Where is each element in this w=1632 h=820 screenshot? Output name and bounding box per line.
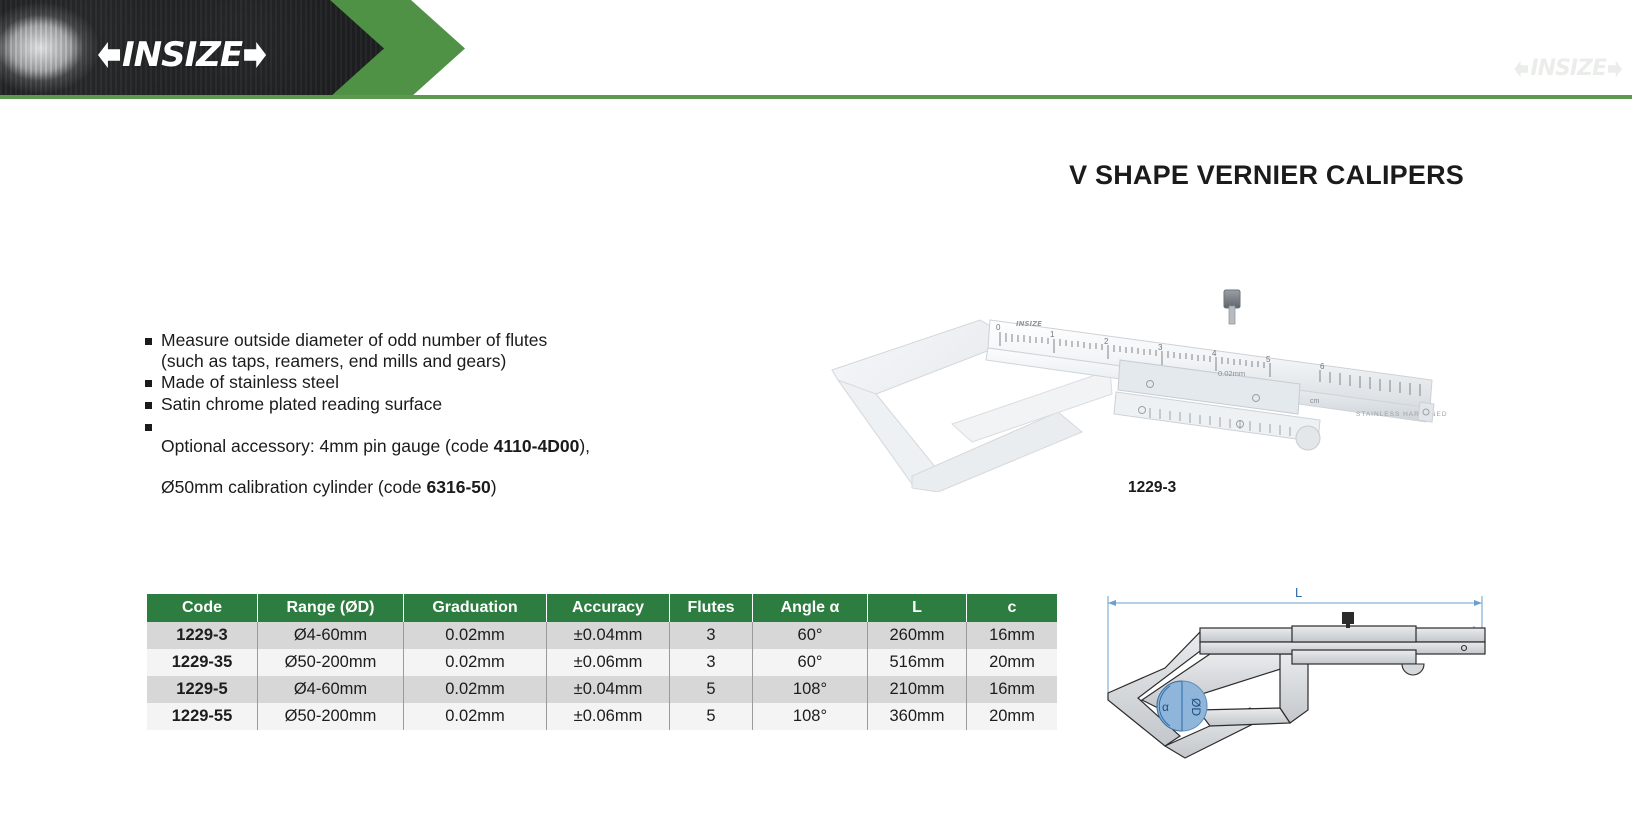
cell-accuracy: ±0.06mm — [547, 703, 670, 730]
watermark-right-arrow-icon — [1608, 61, 1622, 78]
logo-wordmark: INSIZE — [122, 38, 242, 72]
cell-c: 16mm — [967, 676, 1058, 703]
table-row: 1229-55 Ø50-200mm 0.02mm ±0.06mm 5 108° … — [147, 703, 1057, 730]
cell-angle: 60° — [753, 622, 868, 649]
cell-accuracy: ±0.04mm — [547, 676, 670, 703]
column-header-flutes: Flutes — [670, 594, 753, 622]
list-item: Made of stainless steel — [145, 372, 745, 393]
square-bullet-icon — [145, 402, 152, 409]
product-photo-caption: 1229-3 — [1128, 479, 1176, 497]
caliper-unit-mark: cm — [1310, 398, 1320, 405]
scale-number-1: 1 — [1050, 330, 1055, 339]
cell-angle: 108° — [753, 676, 868, 703]
caliper-body-logo: INSIZE — [1016, 320, 1042, 328]
technical-diagram: L c α ØD — [1050, 558, 1490, 768]
square-bullet-icon — [145, 424, 152, 431]
watermark-left-arrow-icon — [1514, 61, 1528, 78]
watermark-wordmark: INSIZE — [1530, 58, 1606, 80]
cell-flutes: 5 — [670, 703, 753, 730]
table-row: 1229-3 Ø4-60mm 0.02mm ±0.04mm 3 60° 260m… — [147, 622, 1057, 649]
insize-watermark-logo: INSIZE — [1514, 58, 1622, 80]
cell-l: 210mm — [868, 676, 967, 703]
table-body: 1229-3 Ø4-60mm 0.02mm ±0.04mm 3 60° 260m… — [147, 622, 1057, 730]
feature-text: Measure outside diameter of odd number o… — [161, 330, 547, 371]
cell-code: 1229-5 — [147, 676, 258, 703]
cell-graduation: 0.02mm — [404, 622, 547, 649]
caliper-photo-svg: 0 1 2 3 4 5 6 — [820, 262, 1460, 492]
feature-text-optional: Optional accessory: 4mm pin gauge (code … — [161, 416, 590, 499]
caliper-diagram-svg: L c α ØD — [1050, 558, 1490, 768]
cell-accuracy: ±0.04mm — [547, 622, 670, 649]
column-header-range: Range (ØD) — [258, 594, 404, 622]
page-title: V SHAPE VERNIER CALIPERS — [1069, 160, 1464, 191]
cell-l: 260mm — [868, 622, 967, 649]
accessory-code-calibration-cylinder: 6316-50 — [427, 477, 491, 497]
cell-code: 1229-3 — [147, 622, 258, 649]
cell-c: 16mm — [967, 622, 1058, 649]
cell-angle: 60° — [753, 649, 868, 676]
logo-right-arrow-icon — [244, 42, 266, 68]
cell-code: 1229-35 — [147, 649, 258, 676]
cell-range: Ø4-60mm — [258, 622, 404, 649]
logo-left-arrow-icon — [98, 42, 120, 68]
cell-l: 360mm — [868, 703, 967, 730]
scale-number-2: 2 — [1104, 337, 1109, 346]
cell-flutes: 5 — [670, 676, 753, 703]
cell-flutes: 3 — [670, 649, 753, 676]
cell-c: 20mm — [967, 649, 1058, 676]
product-photo-1229-3: 0 1 2 3 4 5 6 — [820, 262, 1460, 492]
table-header-row: Code Range (ØD) Graduation Accuracy Flut… — [147, 594, 1057, 622]
table-row: 1229-5 Ø4-60mm 0.02mm ±0.04mm 5 108° 210… — [147, 676, 1057, 703]
column-header-l: L — [868, 594, 967, 622]
optional-line2-post: ) — [491, 477, 497, 497]
scale-number-3: 3 — [1158, 343, 1163, 352]
scale-number-6: 6 — [1320, 362, 1325, 371]
list-item: Satin chrome plated reading surface — [145, 394, 745, 415]
cell-range: Ø4-60mm — [258, 676, 404, 703]
diagram-label-alpha: α — [1162, 700, 1169, 714]
cell-accuracy: ±0.06mm — [547, 649, 670, 676]
caliper-material-mark: STAINLESS HARDENED — [1356, 411, 1448, 418]
square-bullet-icon — [145, 380, 152, 387]
accessory-code-pin-gauge: 4110-4D00 — [494, 436, 580, 456]
feature-text: Satin chrome plated reading surface — [161, 394, 442, 415]
feature-list: Measure outside diameter of odd number o… — [145, 330, 745, 499]
header-green-divider — [0, 95, 1632, 99]
cell-l: 516mm — [868, 649, 967, 676]
feature-text: Made of stainless steel — [161, 372, 339, 393]
optional-line1-pre: Optional accessory: 4mm pin gauge (code — [161, 436, 494, 456]
optional-line2-pre: Ø50mm calibration cylinder (code — [161, 477, 427, 497]
column-header-code: Code — [147, 594, 258, 622]
scale-number-4: 4 — [1212, 349, 1217, 358]
optional-line1-post: ), — [579, 436, 590, 456]
list-item-optional-accessory: Optional accessory: 4mm pin gauge (code … — [145, 416, 745, 499]
page-header: INSIZE INSIZE — [0, 0, 1632, 100]
cell-graduation: 0.02mm — [404, 649, 547, 676]
cell-graduation: 0.02mm — [404, 703, 547, 730]
column-header-angle: Angle α — [753, 594, 868, 622]
cell-range: Ø50-200mm — [258, 703, 404, 730]
list-item: Measure outside diameter of odd number o… — [145, 330, 745, 371]
column-header-c: c — [967, 594, 1058, 622]
table-row: 1229-35 Ø50-200mm 0.02mm ±0.06mm 3 60° 5… — [147, 649, 1057, 676]
square-bullet-icon — [145, 338, 152, 345]
caliper-graduation-mark: 0.02mm — [1218, 369, 1245, 378]
diagram-label-diameter: ØD — [1189, 698, 1203, 716]
cell-graduation: 0.02mm — [404, 676, 547, 703]
column-header-accuracy: Accuracy — [547, 594, 670, 622]
specification-table: Code Range (ØD) Graduation Accuracy Flut… — [147, 594, 1057, 730]
cell-angle: 108° — [753, 703, 868, 730]
scale-number-5: 5 — [1266, 355, 1271, 364]
scale-number-0: 0 — [996, 323, 1001, 332]
cell-c: 20mm — [967, 703, 1058, 730]
dimension-label-l: L — [1295, 585, 1302, 600]
cell-code: 1229-55 — [147, 703, 258, 730]
column-header-graduation: Graduation — [404, 594, 547, 622]
cell-range: Ø50-200mm — [258, 649, 404, 676]
insize-logo: INSIZE — [98, 38, 266, 72]
cell-flutes: 3 — [670, 622, 753, 649]
